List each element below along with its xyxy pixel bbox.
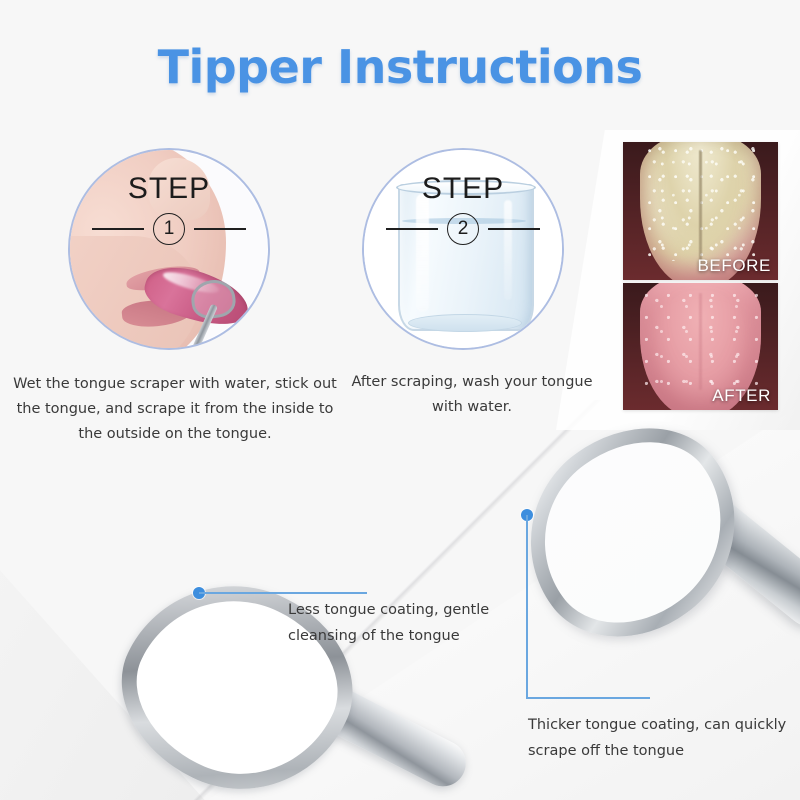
callout-line-vertical-thicker xyxy=(526,515,528,698)
step-2-caption: After scraping, wash your tongue with wa… xyxy=(348,370,596,420)
scraper-head-left xyxy=(91,547,383,800)
before-label: BEFORE xyxy=(697,256,771,276)
callout-line-horizontal-thicker xyxy=(526,697,650,699)
step-rule-left xyxy=(92,228,144,230)
step-2-label: STEP xyxy=(364,172,562,206)
step-1-number-row: 1 xyxy=(70,212,268,246)
step-2-photo-circle: STEP 2 xyxy=(362,148,564,350)
step-1-number: 1 xyxy=(153,213,185,245)
step-rule-right xyxy=(488,228,540,230)
tongue-scraper-right xyxy=(500,425,800,685)
step-2-number: 2 xyxy=(447,213,479,245)
after-photo: AFTER xyxy=(623,283,778,410)
step-1-label: STEP xyxy=(70,172,268,206)
callout-text-less-coating: Less tongue coating, gentle cleansing of… xyxy=(288,597,528,649)
page-title: Tipper Instructions xyxy=(0,40,800,94)
step-1-caption: Wet the tongue scraper with water, stick… xyxy=(8,372,342,447)
step-2-number-row: 2 xyxy=(364,212,562,246)
step-rule-right xyxy=(194,228,246,230)
infographic-canvas: Tipper Instructions STEP 1 xyxy=(0,0,800,800)
callout-line-less-coating xyxy=(199,592,367,594)
glass-base xyxy=(408,314,522,332)
tongue-midline xyxy=(699,293,702,390)
tongue-midline xyxy=(699,150,702,260)
after-label: AFTER xyxy=(712,386,771,406)
before-photo: BEFORE xyxy=(623,142,778,280)
step-1-photo-circle: STEP 1 xyxy=(68,148,270,350)
step-rule-left xyxy=(386,228,438,230)
callout-text-thicker-coating: Thicker tongue coating, can quickly scra… xyxy=(528,712,798,764)
